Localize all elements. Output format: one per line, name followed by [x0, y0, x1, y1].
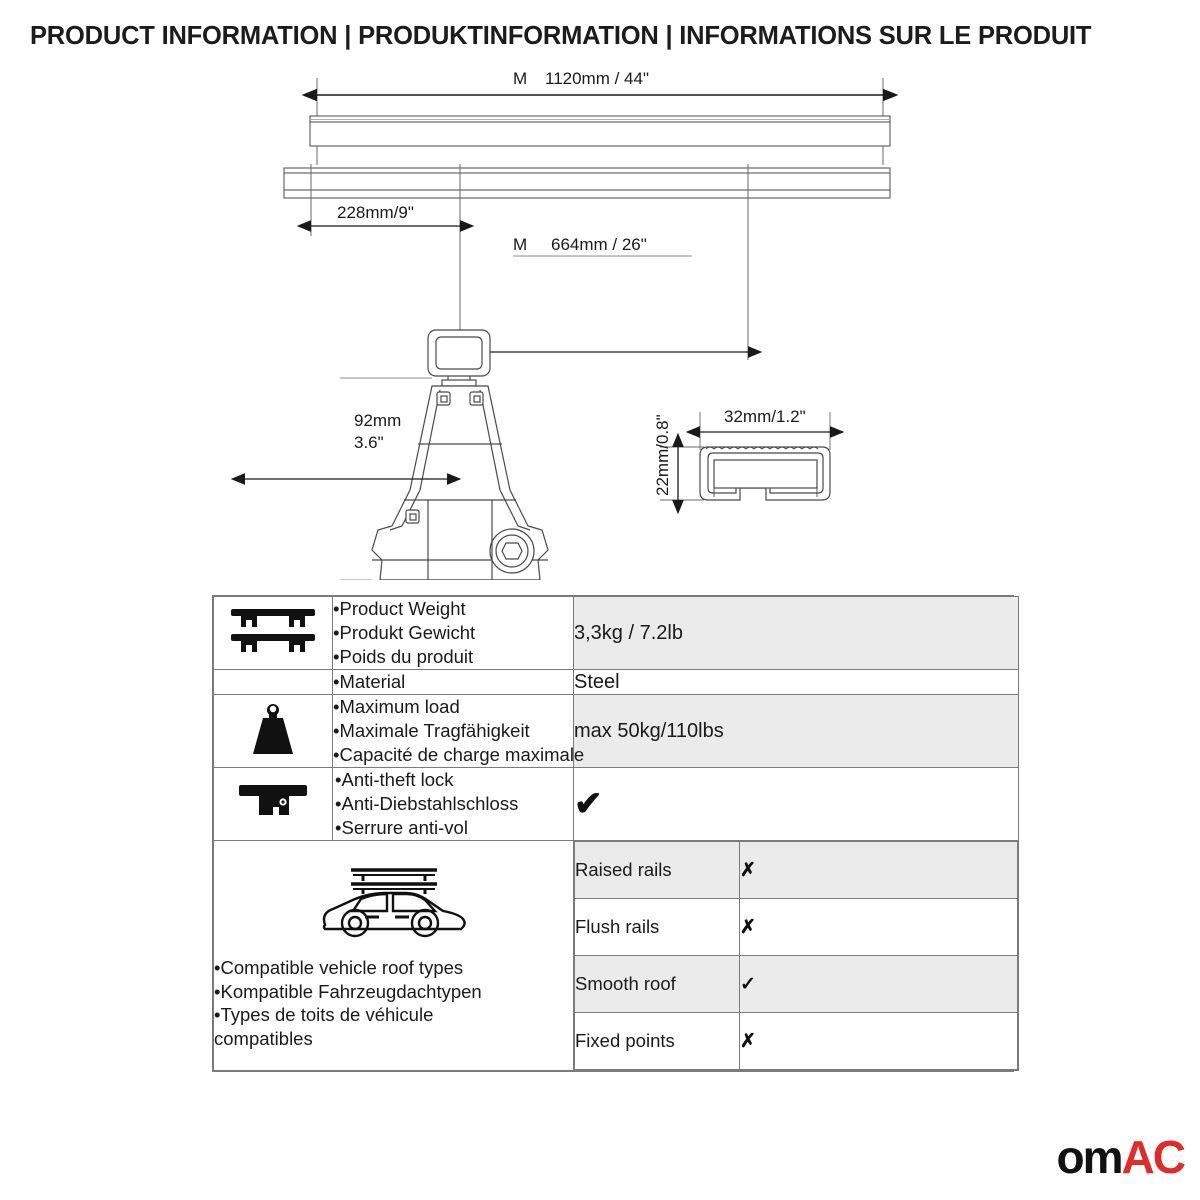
label-line: •Capacité de charge maximale — [333, 743, 573, 767]
logo-text-om: om — [1057, 1131, 1122, 1183]
page-header: PRODUCT INFORMATION | PRODUKTINFORMATION… — [0, 0, 1200, 62]
roof-type-mark: ✗ — [740, 1013, 1018, 1070]
logo-text-ac: AC — [1122, 1131, 1184, 1183]
roof-type-mark: ✓ — [740, 956, 1018, 1013]
omac-logo: omAC — [1057, 1134, 1184, 1180]
label-line: •Product Weight — [333, 597, 573, 621]
label-line: •Maximum load — [333, 695, 573, 719]
material-value: Steel — [574, 670, 1019, 695]
product-weight-value: 3,3kg / 7.2lb — [574, 597, 1019, 670]
roof-type-name: Flush rails — [575, 899, 740, 956]
label-line: •Produkt Gewicht — [333, 621, 573, 645]
anti-theft-value: ✔ — [574, 768, 1019, 841]
product-weight-labels: •Product Weight •Produkt Gewicht •Poids … — [333, 597, 574, 670]
max-load-value: max 50kg/110lbs — [574, 695, 1019, 768]
roof-type-row: Raised rails ✗ — [575, 842, 1018, 899]
specification-table: •Product Weight •Produkt Gewicht •Poids … — [212, 595, 1014, 1072]
material-labels: •Material — [333, 670, 574, 695]
label-line: •Maximale Tragfähigkeit — [333, 719, 573, 743]
foot-height-line1: 92mm — [354, 411, 401, 430]
material-icon-cell — [214, 670, 333, 695]
label-line: •Kompatible Fahrzeugdachtypen — [214, 980, 573, 1004]
crossbars-icon — [227, 603, 319, 659]
lock-icon — [233, 777, 313, 827]
label-line: •Anti-Diebstahlschloss — [335, 792, 573, 816]
label-line: •Poids du produit — [333, 645, 573, 669]
profile-cross-section — [700, 447, 830, 500]
bar-length-prefix: M — [513, 69, 527, 88]
anti-theft-labels: •Anti-theft lock •Anti-Diebstahlschloss … — [333, 768, 574, 841]
roof-type-row: Fixed points ✗ — [575, 1013, 1018, 1070]
roof-types-table: Raised rails ✗ Flush rails ✗ Smooth roof… — [574, 841, 1018, 1070]
roof-type-name: Smooth roof — [575, 956, 740, 1013]
bar-length-label: 1120mm / 44" — [545, 69, 649, 88]
page-title: PRODUCT INFORMATION | PRODUKTINFORMATION… — [30, 22, 1091, 51]
foot-offset-label: 228mm/9" — [337, 203, 414, 222]
roof-type-name: Raised rails — [575, 842, 740, 899]
check-mark: ✔ — [574, 785, 603, 823]
drawings-svg: M 1120mm / 44" 228mm/9" M 664mm / 26" — [0, 60, 1200, 580]
table-row: •Maximum load •Maximale Tragfähigkeit •C… — [214, 695, 1019, 768]
roof-type-mark: ✗ — [740, 842, 1018, 899]
crossbar-plan-view — [284, 164, 890, 360]
label-line: •Anti-theft lock — [335, 768, 573, 792]
roof-type-row: Smooth roof ✓ — [575, 956, 1018, 1013]
car-with-roof-bars-icon — [309, 861, 479, 941]
table-row: •Compatible vehicle roof types •Kompatib… — [214, 841, 1019, 1071]
roof-type-mark: ✗ — [740, 899, 1018, 956]
foot-front-view — [372, 330, 548, 580]
span-prefix: M — [513, 235, 527, 254]
label-line: •Material — [333, 670, 573, 694]
table-row: •Anti-theft lock •Anti-Diebstahlschloss … — [214, 768, 1019, 841]
roof-type-row: Flush rails ✗ — [575, 899, 1018, 956]
profile-height-label: 22mm/0.8" — [653, 414, 672, 496]
label-line: •Types de toits de véhicule — [214, 1003, 573, 1027]
foot-height-line2: 3.6" — [354, 433, 384, 452]
profile-width-label: 32mm/1.2" — [724, 407, 806, 426]
label-line: •Compatible vehicle roof types — [214, 956, 573, 980]
anti-theft-icon-cell — [214, 768, 333, 841]
max-load-labels: •Maximum load •Maximale Tragfähigkeit •C… — [333, 695, 574, 768]
label-line: •Serrure anti-vol — [335, 816, 573, 840]
compatibility-labels: •Compatible vehicle roof types •Kompatib… — [214, 956, 573, 1051]
table-row: •Product Weight •Produkt Gewicht •Poids … — [214, 597, 1019, 670]
label-line: compatibles — [214, 1027, 573, 1051]
roof-type-name: Fixed points — [575, 1013, 740, 1070]
roof-types-subtable-cell: Raised rails ✗ Flush rails ✗ Smooth roof… — [574, 841, 1019, 1071]
crossbar-top-view — [310, 78, 890, 165]
compatible-roof-types-cell: •Compatible vehicle roof types •Kompatib… — [214, 841, 574, 1071]
product-weight-icon-cell — [214, 597, 333, 670]
weight-icon — [241, 698, 305, 760]
max-load-icon-cell — [214, 695, 333, 768]
span-label: 664mm / 26" — [551, 235, 647, 254]
technical-drawings: M 1120mm / 44" 228mm/9" M 664mm / 26" — [0, 60, 1200, 580]
table-row: •Material Steel — [214, 670, 1019, 695]
